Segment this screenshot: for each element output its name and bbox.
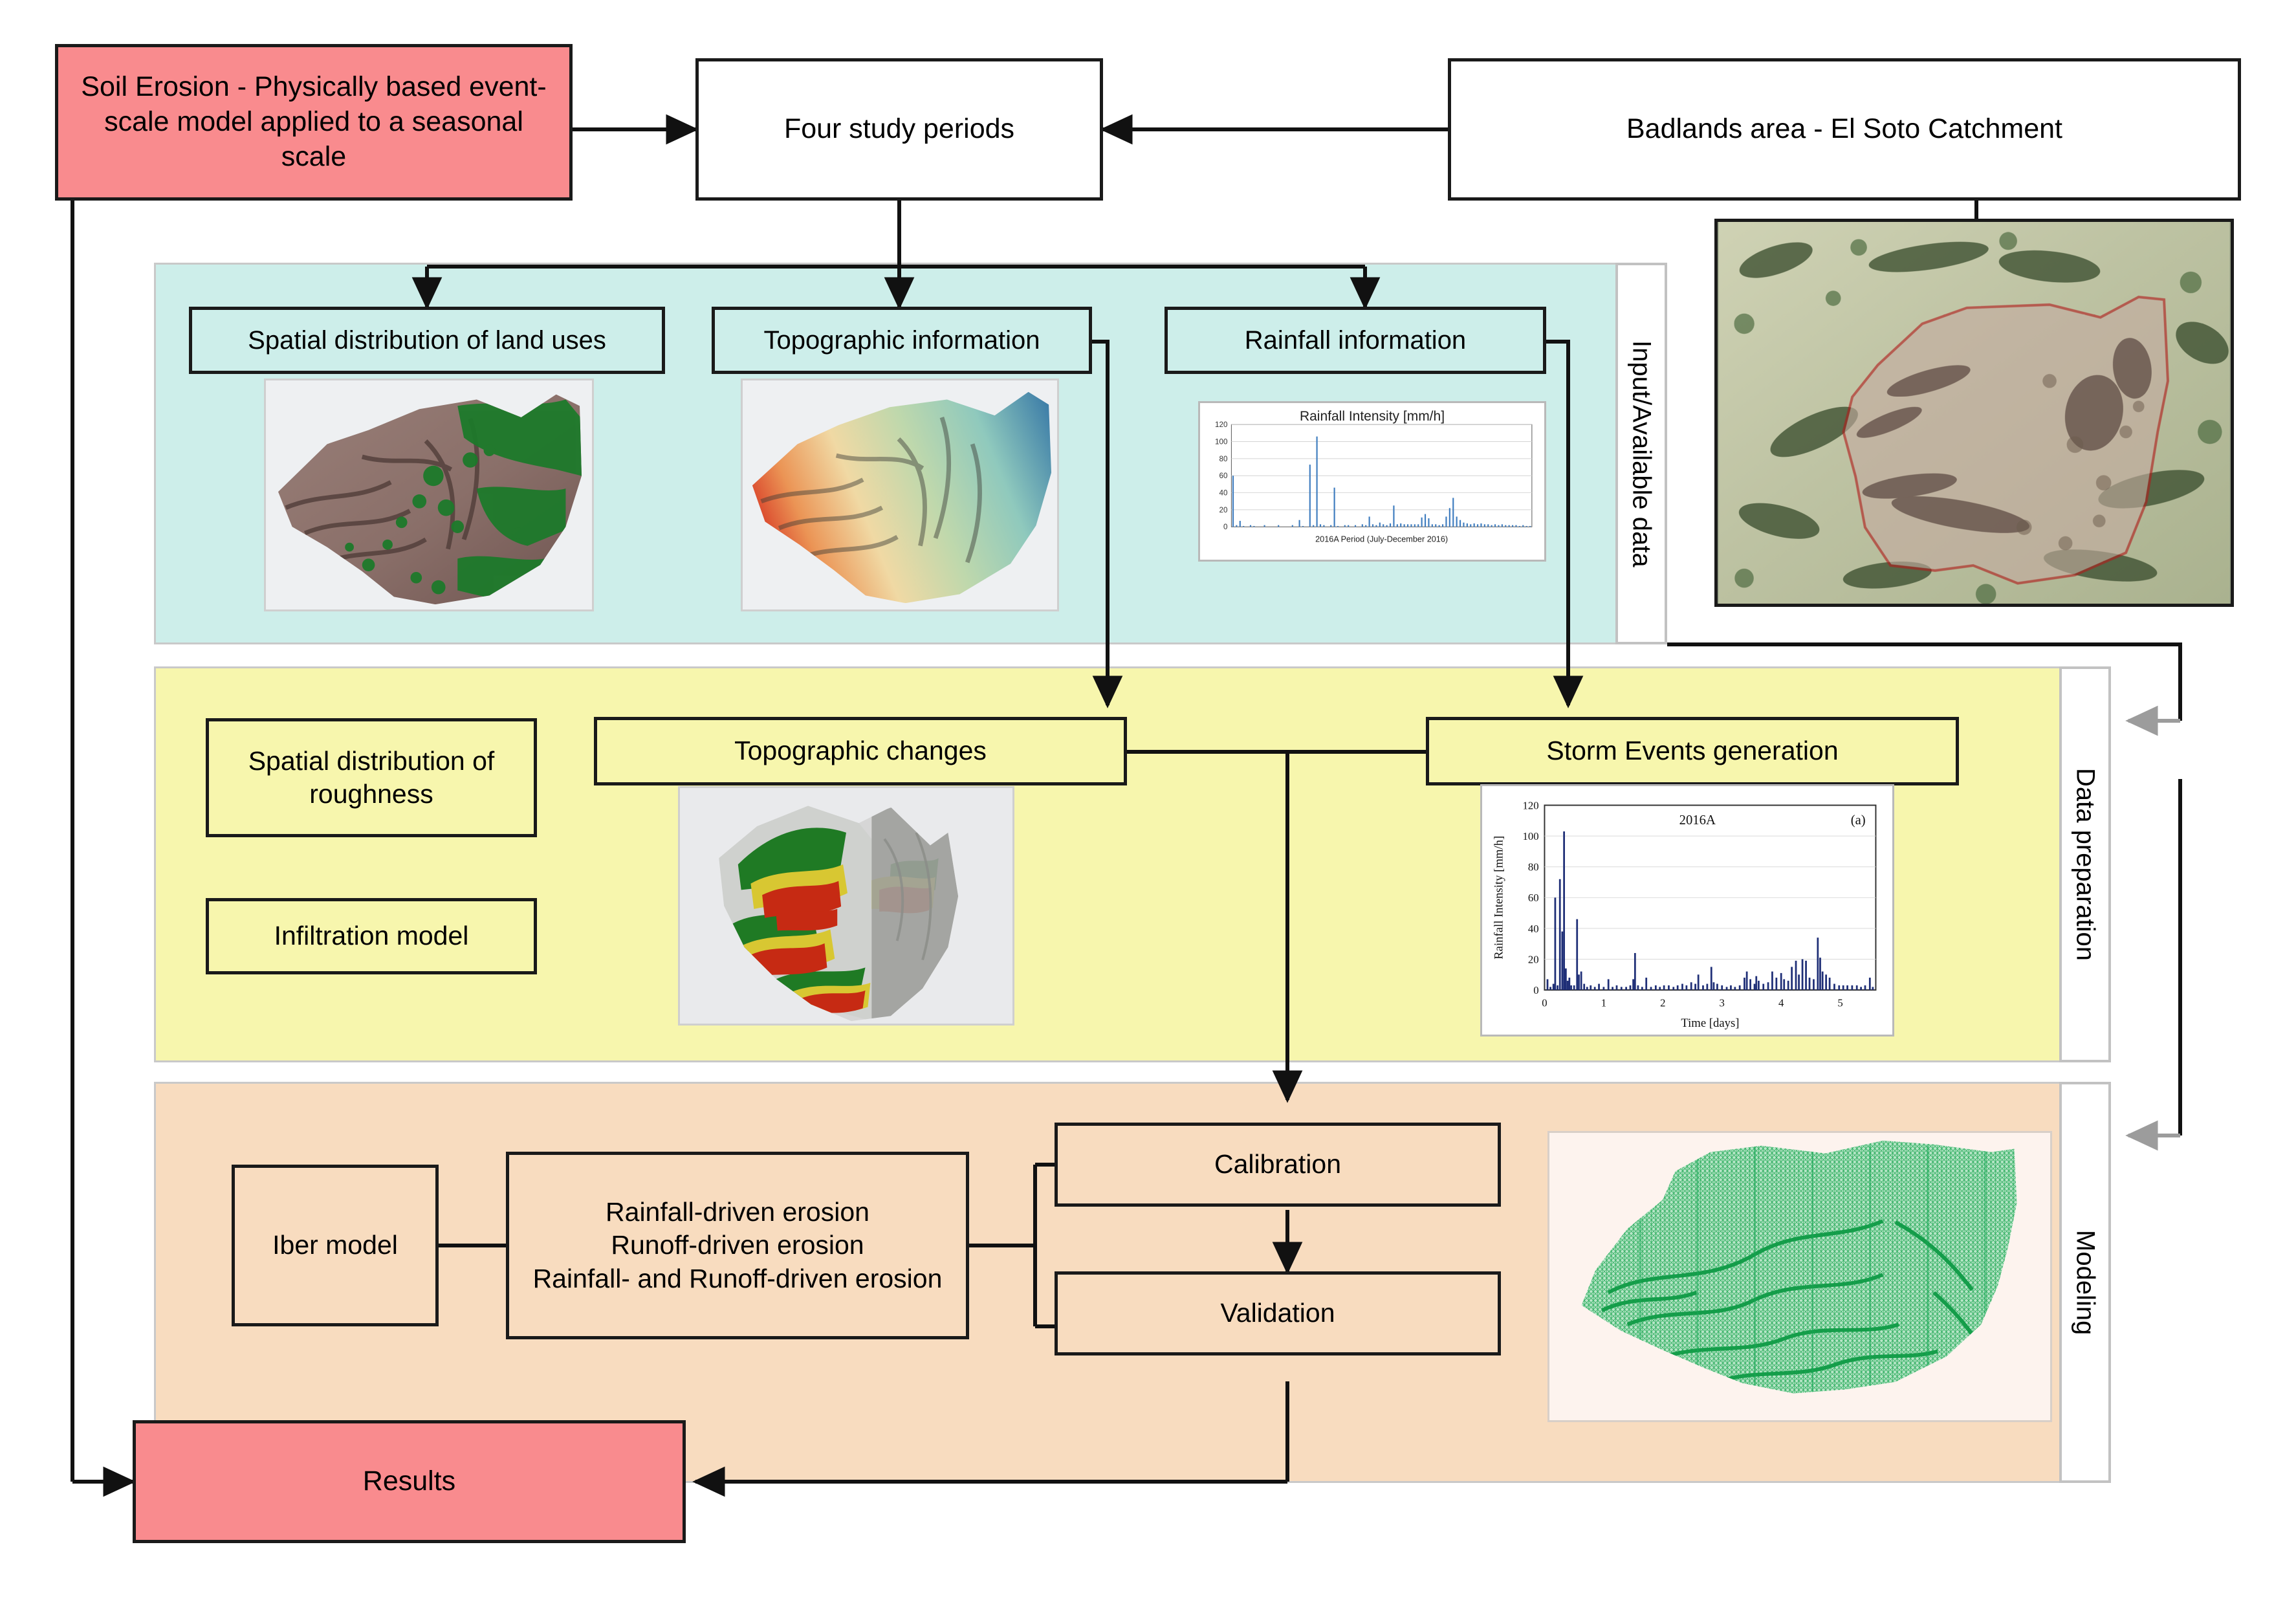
svg-text:80: 80 (1219, 455, 1229, 463)
chart-rainfall-information-plot: 0204060801001202016A Period (July-Decemb… (1200, 403, 1544, 560)
chart-rainfall-information: Rainfall Intensity [mm/h] 02040608010012… (1198, 401, 1546, 562)
node-validation-label: Validation (1220, 1297, 1335, 1330)
svg-text:40: 40 (1219, 488, 1229, 497)
svg-text:1: 1 (1601, 997, 1606, 1009)
svg-text:20: 20 (1528, 953, 1539, 965)
svg-text:Time [days]: Time [days] (1681, 1016, 1739, 1030)
node-iber-model-label: Iber model (272, 1229, 398, 1262)
svg-text:60: 60 (1219, 472, 1229, 480)
chart-rainfall-information-title: Rainfall Intensity [mm/h] (1200, 409, 1544, 424)
svg-text:0: 0 (1533, 984, 1538, 996)
side-label-modeling: Modeling (2059, 1082, 2111, 1483)
node-soil-erosion-title-label: Soil Erosion - Physically based event-sc… (80, 70, 547, 174)
image-computational-mesh (1547, 1131, 2052, 1422)
node-iber-model[interactable]: Iber model (232, 1165, 439, 1326)
svg-text:5: 5 (1837, 997, 1842, 1009)
side-label-data-preparation-text: Data preparation (2071, 768, 2100, 961)
svg-text:0: 0 (1223, 523, 1228, 531)
image-satellite-catchment (1714, 219, 2234, 607)
side-label-modeling-text: Modeling (2071, 1230, 2100, 1335)
node-validation[interactable]: Validation (1055, 1271, 1501, 1355)
svg-text:40: 40 (1528, 923, 1539, 935)
node-storm-events-generation-label: Storm Events generation (1546, 734, 1838, 767)
svg-text:2: 2 (1660, 997, 1665, 1009)
svg-text:Rainfall Intensity [mm/h]: Rainfall Intensity [mm/h] (1492, 836, 1505, 960)
svg-text:20: 20 (1219, 506, 1229, 514)
image-dem-terrain (741, 379, 1059, 611)
node-topographic-changes-label: Topographic changes (734, 734, 987, 767)
node-storm-events-generation[interactable]: Storm Events generation (1426, 717, 1959, 785)
node-calibration[interactable]: Calibration (1055, 1123, 1501, 1207)
svg-text:120: 120 (1523, 799, 1539, 811)
svg-text:60: 60 (1528, 892, 1539, 904)
node-topographic-changes[interactable]: Topographic changes (594, 717, 1127, 785)
flowchart-root: Input/Available data Data preparation Mo… (0, 0, 2296, 1624)
node-four-study-periods[interactable]: Four study periods (695, 58, 1103, 201)
svg-text:0: 0 (1542, 997, 1547, 1009)
node-four-study-periods-label: Four study periods (784, 112, 1014, 147)
node-topographic-information-label: Topographic information (764, 324, 1040, 357)
node-badlands-area[interactable]: Badlands area - El Soto Catchment (1448, 58, 2241, 201)
svg-text:4: 4 (1778, 997, 1784, 1009)
chart-storm-event: 0204060801001200123452016A(a)Time [days]… (1480, 784, 1894, 1037)
svg-text:2016A: 2016A (1679, 813, 1716, 828)
svg-text:2016A Period (July-December 20: 2016A Period (July-December 2016) (1315, 535, 1448, 544)
image-topographic-changes (678, 786, 1014, 1026)
node-infiltration-model[interactable]: Infiltration model (206, 898, 537, 974)
node-rainfall-information-label: Rainfall information (1245, 324, 1466, 357)
svg-text:(a): (a) (1851, 813, 1866, 828)
svg-text:100: 100 (1215, 437, 1228, 446)
chart-storm-event-plot: 0204060801001200123452016A(a)Time [days]… (1482, 786, 1892, 1035)
svg-text:3: 3 (1720, 997, 1725, 1009)
node-results-label: Results (363, 1464, 455, 1499)
svg-text:100: 100 (1523, 830, 1539, 842)
node-soil-erosion-title[interactable]: Soil Erosion - Physically based event-sc… (55, 44, 573, 201)
node-erosion-processes-label: Rainfall-driven erosion Runoff-driven er… (533, 1196, 943, 1295)
node-spatial-distribution-land-uses[interactable]: Spatial distribution of land uses (189, 307, 665, 374)
node-calibration-label: Calibration (1214, 1148, 1341, 1181)
side-label-input: Input/Available data (1615, 263, 1667, 644)
node-erosion-processes[interactable]: Rainfall-driven erosion Runoff-driven er… (506, 1152, 969, 1339)
node-rainfall-information[interactable]: Rainfall information (1164, 307, 1546, 374)
svg-text:80: 80 (1528, 861, 1539, 873)
node-spatial-distribution-roughness[interactable]: Spatial distribution of roughness (206, 718, 537, 837)
node-infiltration-model-label: Infiltration model (274, 919, 469, 952)
node-badlands-area-label: Badlands area - El Soto Catchment (1626, 112, 2062, 147)
node-spatial-distribution-land-uses-label: Spatial distribution of land uses (248, 324, 606, 357)
node-spatial-distribution-roughness-label: Spatial distribution of roughness (223, 745, 519, 811)
node-topographic-information[interactable]: Topographic information (712, 307, 1092, 374)
node-results[interactable]: Results (133, 1420, 686, 1543)
side-label-input-text: Input/Available data (1627, 340, 1656, 567)
side-label-data-preparation: Data preparation (2059, 666, 2111, 1062)
image-land-use-terrain (264, 379, 594, 611)
